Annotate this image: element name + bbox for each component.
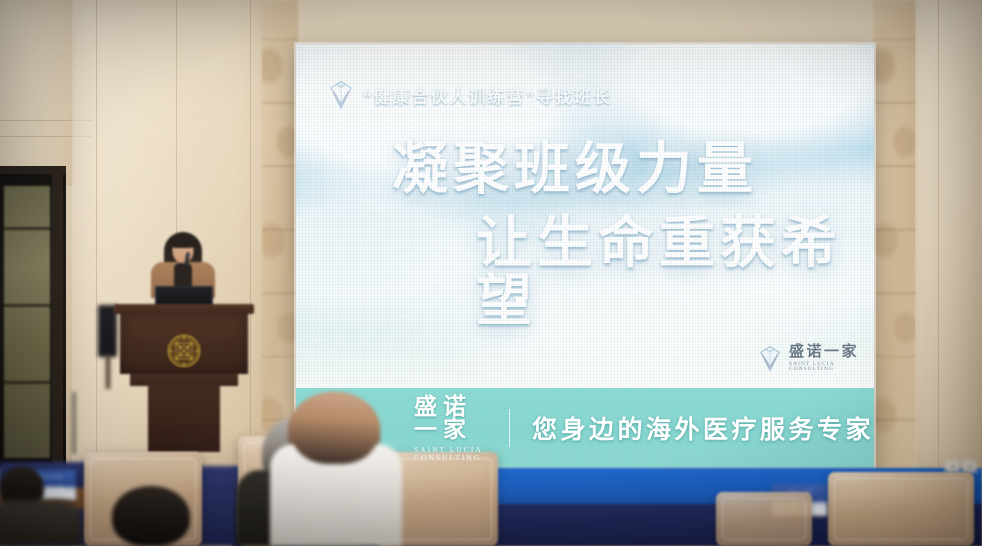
slide-logo-wordmark: 盛诺一家 SAINT LUCIA CONSULTING xyxy=(789,344,874,373)
audience-chair-right-mid xyxy=(716,492,812,546)
slide-title-block: 凝聚班级力量 让生命重获希望 xyxy=(296,140,874,331)
wall-seam-vertical-a xyxy=(96,0,97,470)
slide-header: “健康合伙人训练营”寻找班长 xyxy=(328,80,612,110)
cable-left xyxy=(73,392,75,454)
podium-base xyxy=(148,384,220,452)
attendee-head-left xyxy=(112,486,190,546)
attendee-shoulders-far-left xyxy=(0,500,82,546)
slide-title-line-2: 让生命重获希望 xyxy=(476,214,874,330)
wall-panel-far-right xyxy=(915,0,982,470)
wall-panel-upper-left xyxy=(0,0,74,186)
pa-speaker-stand xyxy=(106,355,110,389)
slide-corner-logo: 盛诺一家 SAINT LUCIA CONSULTING xyxy=(758,344,874,373)
footer-divider xyxy=(509,409,510,447)
recess-header-beam xyxy=(0,166,66,174)
saint-lucia-diamond-icon xyxy=(758,345,782,372)
diamond-shield-emblem-icon xyxy=(328,80,354,110)
wall-seam-vertical-right xyxy=(938,0,939,470)
slide-title-line-1: 凝聚班级力量 xyxy=(392,140,874,198)
podium-laptop xyxy=(155,286,213,305)
slide-logo-cn: 盛诺一家 xyxy=(789,344,874,359)
slide-footer-content: 盛诺一家 SAINT LUCIA CONSULTING 您身边的海外医疗服务专家 xyxy=(296,388,874,468)
slide-footer-band: 盛诺一家 SAINT LUCIA CONSULTING 您身边的海外医疗服务专家 xyxy=(296,388,874,468)
footer-logo: 盛诺一家 SAINT LUCIA CONSULTING xyxy=(414,395,487,461)
podium-gold-medallion-icon xyxy=(167,334,201,368)
footer-logo-en: SAINT LUCIA CONSULTING xyxy=(414,446,487,461)
recess-mullion xyxy=(52,170,63,470)
presenter-hair-top xyxy=(171,234,195,248)
screenshot-root: “健康合伙人训练营”寻找班长 凝聚班级力量 让生命重获希望 盛诺一家 SAINT… xyxy=(0,0,982,546)
pilaster-right-of-screen xyxy=(873,0,917,546)
slide-header-text: “健康合伙人训练营”寻找班长 xyxy=(363,83,612,108)
led-presentation-screen: “健康合伙人训练营”寻找班长 凝聚班级力量 让生命重获希望 盛诺一家 SAINT… xyxy=(296,44,874,468)
recess-glass-panels xyxy=(4,186,50,458)
footer-logo-cn: 盛诺一家 xyxy=(414,395,487,441)
audience-chair-right xyxy=(828,472,974,546)
footer-tagline: 您身边的海外医疗服务专家 xyxy=(532,410,874,446)
slide-logo-en: SAINT LUCIA CONSULTING xyxy=(789,362,874,373)
speaker-podium xyxy=(114,304,254,452)
